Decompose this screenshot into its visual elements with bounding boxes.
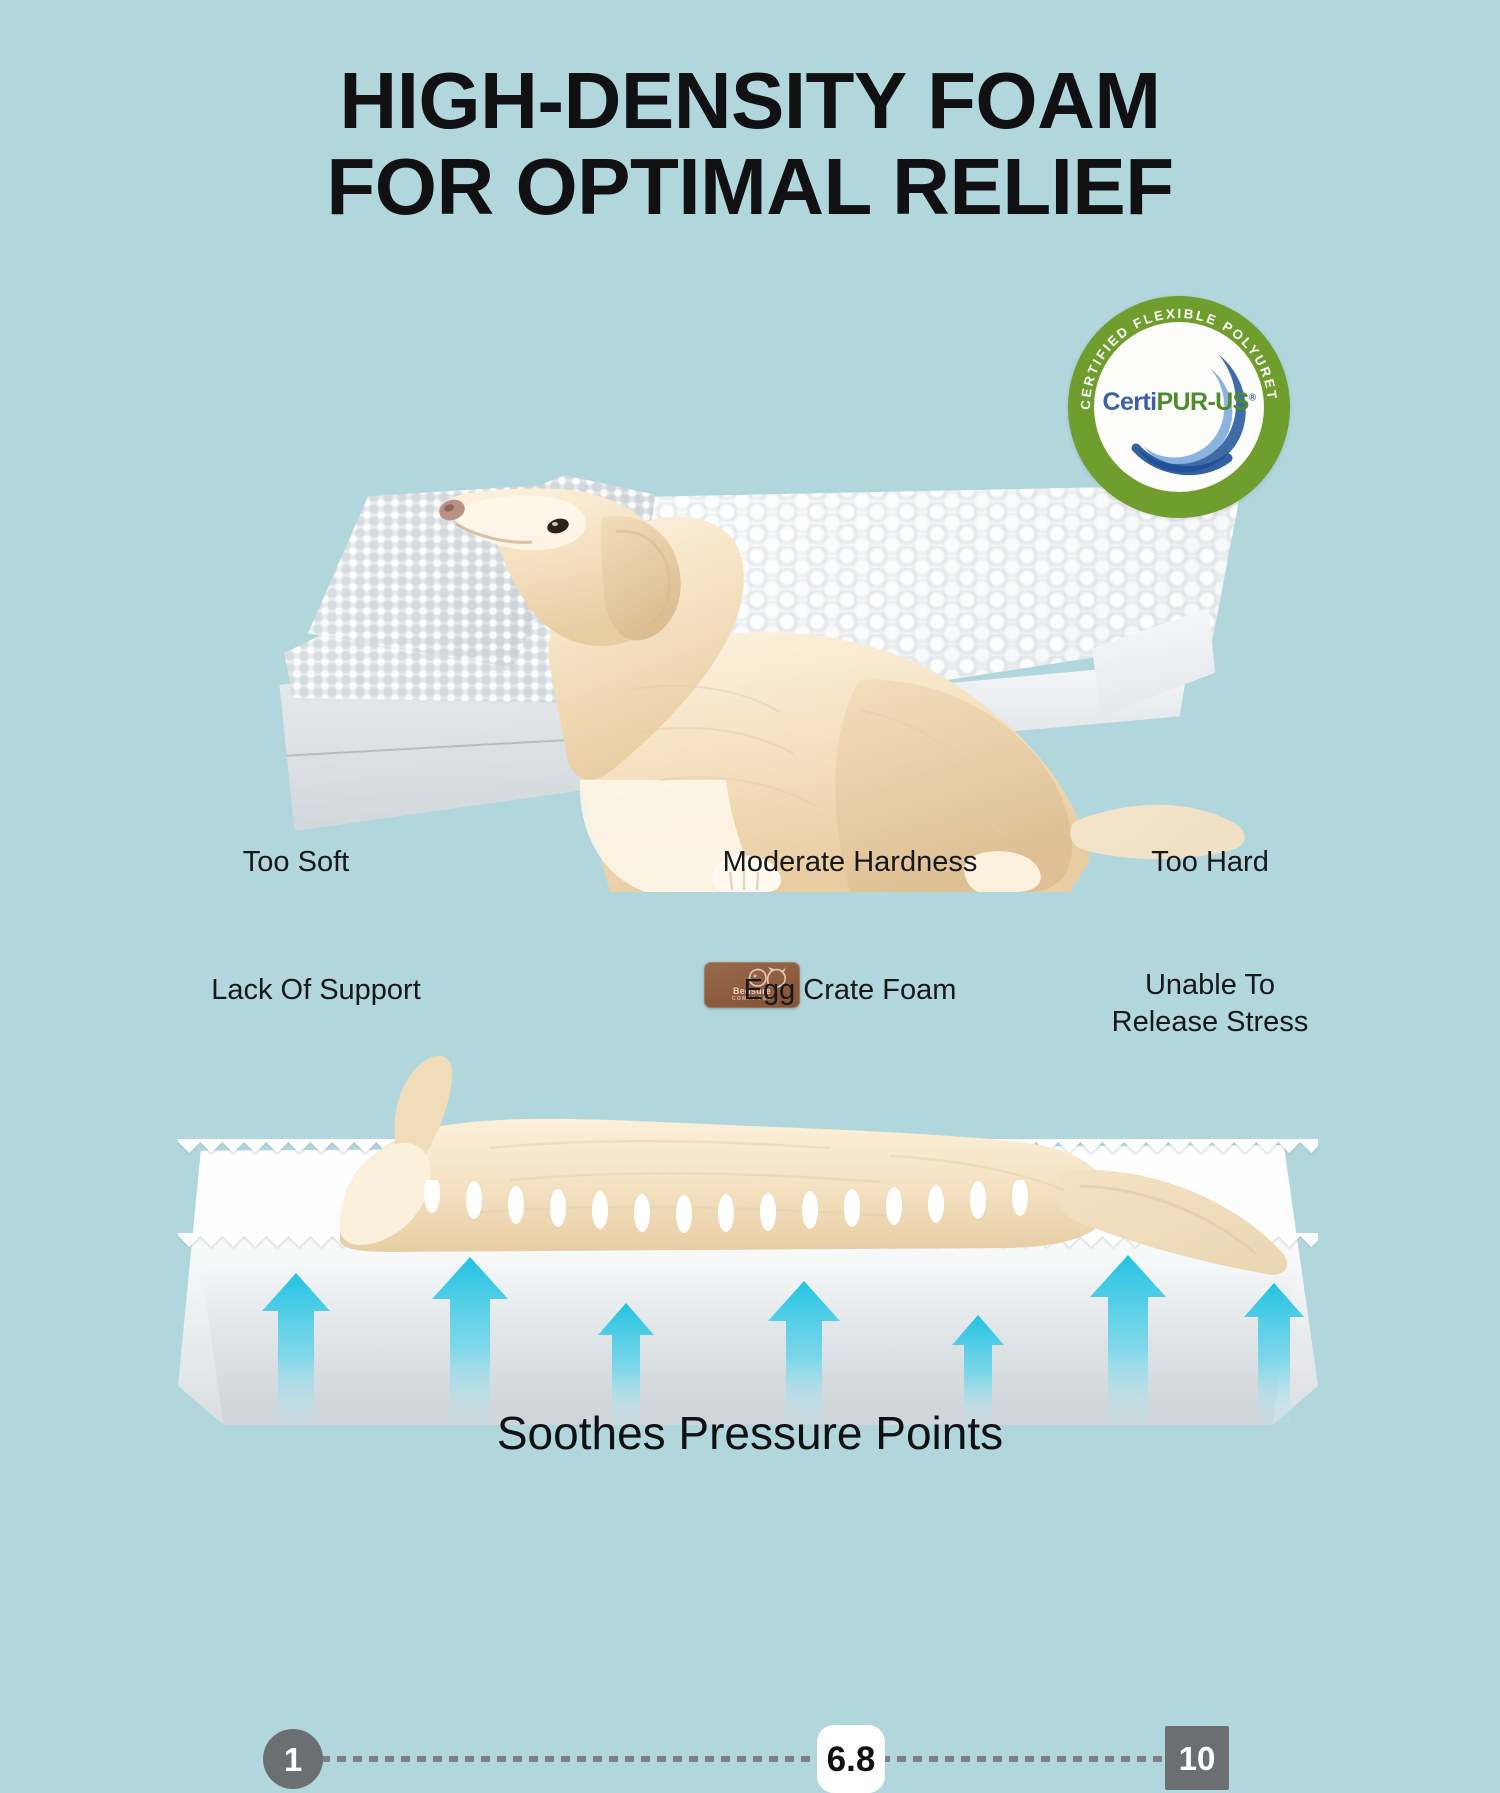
dog-illustration-lower (190, 1030, 1320, 1290)
scale-marker-1: 1 (263, 1729, 323, 1789)
support-arrow (432, 1257, 508, 1423)
certipur-us-badge: CONTAINS CERTIFIED FLEXIBLE POLYURETHANE… (1068, 296, 1290, 518)
scale-bottom-label-moderate: Egg Crate Foam (700, 972, 1000, 1009)
support-arrow (598, 1303, 654, 1423)
support-arrows (178, 1255, 1318, 1425)
badge-brand-part1: Certi (1103, 388, 1157, 416)
badge-registered-mark: ® (1249, 393, 1256, 404)
scale-top-label-hard: Too Hard (1090, 844, 1330, 881)
support-arrow (768, 1281, 840, 1423)
support-arrow (262, 1273, 330, 1423)
bottom-caption: Soothes Pressure Points (0, 1406, 1500, 1460)
scale-bottom-label-soft: Lack Of Support (176, 972, 456, 1009)
page-title: HIGH-DENSITY FOAM FOR OPTIMAL RELIEF (0, 58, 1500, 231)
headline-line-1: HIGH-DENSITY FOAM (0, 58, 1500, 144)
pressure-relief-scene (0, 1030, 1500, 1430)
scale-top-label-soft: Too Soft (176, 844, 416, 881)
scale-top-label-moderate: Moderate Hardness (700, 844, 1000, 881)
scale-bottom-label-hard-line1: Unable To (1145, 969, 1275, 1001)
support-arrow (1244, 1283, 1304, 1423)
scale-marker-10: 10 (1165, 1726, 1229, 1790)
scale-marker-value: 6.8 (817, 1725, 885, 1793)
pressure-point-markers (420, 1180, 1040, 1240)
support-arrow (1090, 1255, 1166, 1423)
scale-dashed-connector (305, 1756, 1195, 1762)
headline-line-2: FOR OPTIMAL RELIEF (0, 144, 1500, 230)
badge-brand-part2: PUR-US (1156, 388, 1248, 416)
badge-brand-wordmark: CertiPUR-US® (1068, 388, 1290, 417)
